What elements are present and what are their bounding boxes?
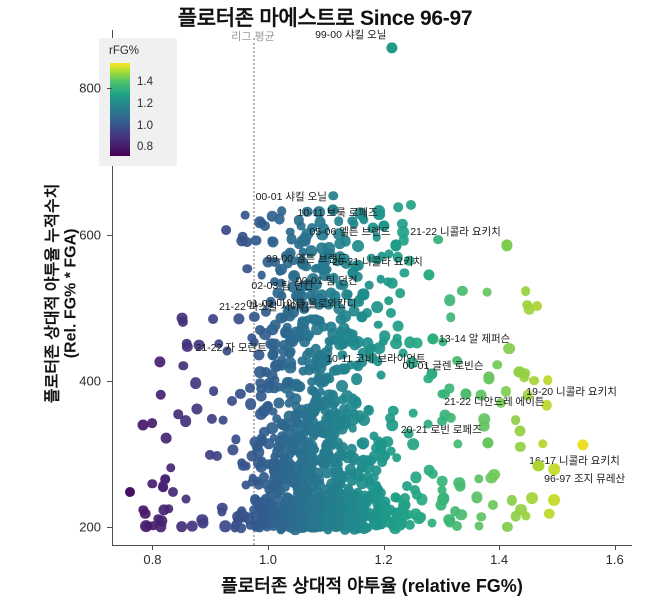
scatter-point xyxy=(400,493,410,503)
scatter-point xyxy=(334,473,343,482)
league-average-reference-line xyxy=(253,38,255,545)
scatter-point xyxy=(176,521,188,533)
point-annotation-label: 20-21 니콜라 요키치 xyxy=(332,256,423,267)
scatter-point xyxy=(257,271,266,280)
scatter-point xyxy=(511,415,521,425)
scatter-point xyxy=(402,509,413,520)
y-axis-tick xyxy=(107,235,112,236)
scatter-chart-figure: 플로터존 마에스트로 Since 96-97 리그 평균 플로터존 상대적 야투… xyxy=(0,0,650,606)
scatter-point xyxy=(320,448,331,459)
scatter-point xyxy=(316,350,326,360)
scatter-point xyxy=(309,432,319,442)
page-title: 플로터존 마에스트로 Since 96-97 xyxy=(0,2,650,32)
point-annotation-label: 21-22 니콜라 요키치 xyxy=(410,227,501,238)
scatter-point xyxy=(245,398,257,410)
scatter-point xyxy=(241,211,250,220)
scatter-point xyxy=(357,463,367,473)
scatter-point xyxy=(532,301,542,311)
scatter-point xyxy=(358,440,367,449)
scatter-point xyxy=(330,457,340,467)
scatter-point xyxy=(308,410,318,420)
scatter-point xyxy=(155,390,166,401)
scatter-point xyxy=(357,503,368,514)
scatter-point xyxy=(367,343,376,352)
x-axis-tick xyxy=(152,545,153,550)
y-axis-tick-label: 800 xyxy=(79,81,101,96)
scatter-point xyxy=(251,235,262,246)
x-axis-tick xyxy=(615,545,616,550)
scatter-point xyxy=(168,487,178,497)
scatter-point xyxy=(538,439,548,449)
y-axis-tick-label: 400 xyxy=(79,373,101,388)
scatter-point xyxy=(397,521,406,530)
scatter-point xyxy=(305,359,317,371)
point-annotation-label: 21-22 디안드레 에이튼 xyxy=(444,397,544,408)
x-axis-tick-label: 1.2 xyxy=(375,552,393,567)
point-annotation-label: 00-01 글렌 로빈슨 xyxy=(403,361,484,372)
scatter-point xyxy=(391,338,403,350)
scatter-point-outlier xyxy=(160,474,170,484)
colorbar-tick xyxy=(130,82,134,83)
scatter-point xyxy=(455,481,466,492)
scatter-point xyxy=(279,345,290,356)
scatter-point xyxy=(529,376,539,386)
scatter-point xyxy=(383,277,393,287)
scatter-point xyxy=(270,320,281,331)
scatter-point xyxy=(284,450,294,460)
scatter-point xyxy=(221,225,231,235)
scatter-point xyxy=(297,422,308,433)
colorbar-tick-label: 1.0 xyxy=(137,120,153,132)
point-annotation-label: 21-22 자 모란트 xyxy=(196,343,267,354)
scatter-point xyxy=(336,380,348,392)
scatter-point xyxy=(270,360,282,372)
scatter-point xyxy=(255,504,266,515)
scatter-point xyxy=(351,373,363,385)
scatter-point xyxy=(245,383,255,393)
scatter-point xyxy=(148,418,158,428)
scatter-point xyxy=(233,515,243,525)
point-annotation-label: 05-06 엘튼 브랜드 xyxy=(309,227,390,238)
scatter-point xyxy=(483,288,492,297)
x-axis-tick xyxy=(499,545,500,550)
scatter-point xyxy=(218,416,227,425)
scatter-point xyxy=(402,481,412,491)
scatter-point xyxy=(137,419,148,430)
scatter-point xyxy=(543,375,553,385)
scatter-point-outlier xyxy=(125,487,135,497)
scatter-point xyxy=(374,320,383,329)
scatter-point xyxy=(407,438,419,450)
scatter-point xyxy=(265,490,274,499)
scatter-point xyxy=(393,321,404,332)
colorbar-tick xyxy=(130,147,134,148)
colorbar-gradient xyxy=(110,63,130,156)
scatter-point xyxy=(301,489,311,499)
y-axis-tick xyxy=(107,381,112,382)
x-axis-title: 플로터존 상대적 야투율 (relative FG%) xyxy=(112,572,632,598)
scatter-point xyxy=(349,329,358,338)
x-axis-tick-label: 1.0 xyxy=(259,552,277,567)
scatter-point xyxy=(438,492,450,504)
y-axis-tick xyxy=(107,527,112,528)
colorbar-tick-label: 0.8 xyxy=(137,141,153,153)
scatter-point xyxy=(272,414,282,424)
scatter-point xyxy=(522,300,532,310)
scatter-point xyxy=(455,509,467,521)
scatter-point xyxy=(382,517,393,528)
x-axis-tick-label: 0.8 xyxy=(143,552,161,567)
scatter-point xyxy=(208,314,218,324)
scatter-point xyxy=(379,330,391,342)
y-axis-tick-label: 600 xyxy=(79,227,101,242)
scatter-point xyxy=(452,521,462,531)
y-axis-tick-label: 200 xyxy=(79,519,101,534)
scatter-point xyxy=(393,202,403,212)
scatter-point xyxy=(254,366,266,378)
colorbar-tick-label: 1.2 xyxy=(137,98,153,110)
scatter-point xyxy=(307,386,317,396)
point-annotation-label: 10-11 브룩 로페즈 xyxy=(298,207,378,218)
scatter-point xyxy=(182,495,191,504)
scatter-point xyxy=(376,371,385,380)
scatter-point xyxy=(488,469,500,481)
scatter-point xyxy=(371,443,381,453)
scatter-point xyxy=(227,396,237,406)
x-axis-tick xyxy=(384,545,385,550)
scatter-point xyxy=(446,312,456,322)
scatter-point xyxy=(475,522,484,531)
scatter-point xyxy=(209,387,219,397)
x-axis-tick xyxy=(268,545,269,550)
scatter-point xyxy=(173,409,183,419)
scatter-point xyxy=(276,517,288,529)
scatter-point xyxy=(349,409,359,419)
scatter-point xyxy=(316,402,325,411)
scatter-point xyxy=(303,469,315,481)
league-average-label: 리그 평균 xyxy=(231,28,275,44)
scatter-point xyxy=(384,296,394,306)
colorbar-tick xyxy=(130,104,134,105)
scatter-point xyxy=(356,477,368,489)
scatter-point xyxy=(424,465,435,476)
colorbar-tick-label: 1.4 xyxy=(137,76,153,88)
x-axis-line xyxy=(112,545,632,546)
x-axis-tick-label: 1.4 xyxy=(490,552,508,567)
scatter-point xyxy=(140,508,151,519)
scatter-point xyxy=(182,339,193,350)
point-annotation-label: 00-01 샤킬 오닐 xyxy=(256,191,327,202)
y-axis-title-line: 플로터존 상대적 야투율 누적수치 xyxy=(45,83,63,503)
scatter-point xyxy=(161,433,172,444)
point-annotation-label: 99-00 샤킬 오닐 xyxy=(315,30,386,41)
scatter-point xyxy=(386,447,395,456)
colorbar-title: rFG% xyxy=(109,45,139,57)
point-annotation-label: 96-97 조지 뮤레산 xyxy=(544,473,625,484)
point-annotation-label: 13-14 알 제퍼슨 xyxy=(439,334,510,345)
scatter-point xyxy=(526,492,538,504)
scatter-point xyxy=(267,236,278,247)
scatter-point xyxy=(268,458,280,470)
scatter-point xyxy=(336,313,347,324)
scatter-point xyxy=(386,419,398,431)
scatter-point xyxy=(371,301,383,313)
scatter-point xyxy=(365,281,374,290)
scatter-point xyxy=(395,289,405,299)
colorbar-tick xyxy=(130,126,134,127)
scatter-point xyxy=(304,330,314,340)
scatter-point xyxy=(282,377,292,387)
scatter-point xyxy=(242,264,252,274)
x-axis-tick-label: 1.6 xyxy=(606,552,624,567)
scatter-point xyxy=(409,409,418,418)
scatter-point xyxy=(322,512,331,521)
scatter-point xyxy=(412,337,423,348)
scatter-point xyxy=(340,338,349,347)
scatter-point xyxy=(352,240,364,252)
point-annotation-label: 00-01 팀 던컨 xyxy=(296,276,358,287)
colorbar-legend: rFG% 0.81.01.21.4 xyxy=(99,38,177,166)
point-annotation-label: 20-21 로빈 로페즈 xyxy=(401,424,482,435)
y-axis-title: 플로터존 상대적 야투율 누적수치(Rel. FG% * FGA) xyxy=(45,83,82,503)
scatter-point xyxy=(521,286,531,296)
scatter-point xyxy=(515,425,526,436)
scatter-point xyxy=(252,446,264,458)
scatter-point xyxy=(286,234,297,245)
scatter-point xyxy=(187,521,198,532)
scatter-point xyxy=(274,214,285,225)
scatter-point xyxy=(257,438,266,447)
scatter-point xyxy=(267,422,279,434)
scatter-point xyxy=(190,378,202,390)
scatter-point xyxy=(322,490,332,500)
scatter-point xyxy=(428,518,437,527)
y-axis-tick xyxy=(107,88,112,89)
scatter-point xyxy=(264,378,275,389)
point-annotation-label: 01-02 마이클 올로와칸디 xyxy=(246,299,356,310)
scatter-point xyxy=(548,494,560,506)
scatter-point xyxy=(339,404,349,414)
y-axis-title-line: (Rel. FG% * FGA) xyxy=(63,83,81,503)
scatter-point xyxy=(413,512,425,524)
